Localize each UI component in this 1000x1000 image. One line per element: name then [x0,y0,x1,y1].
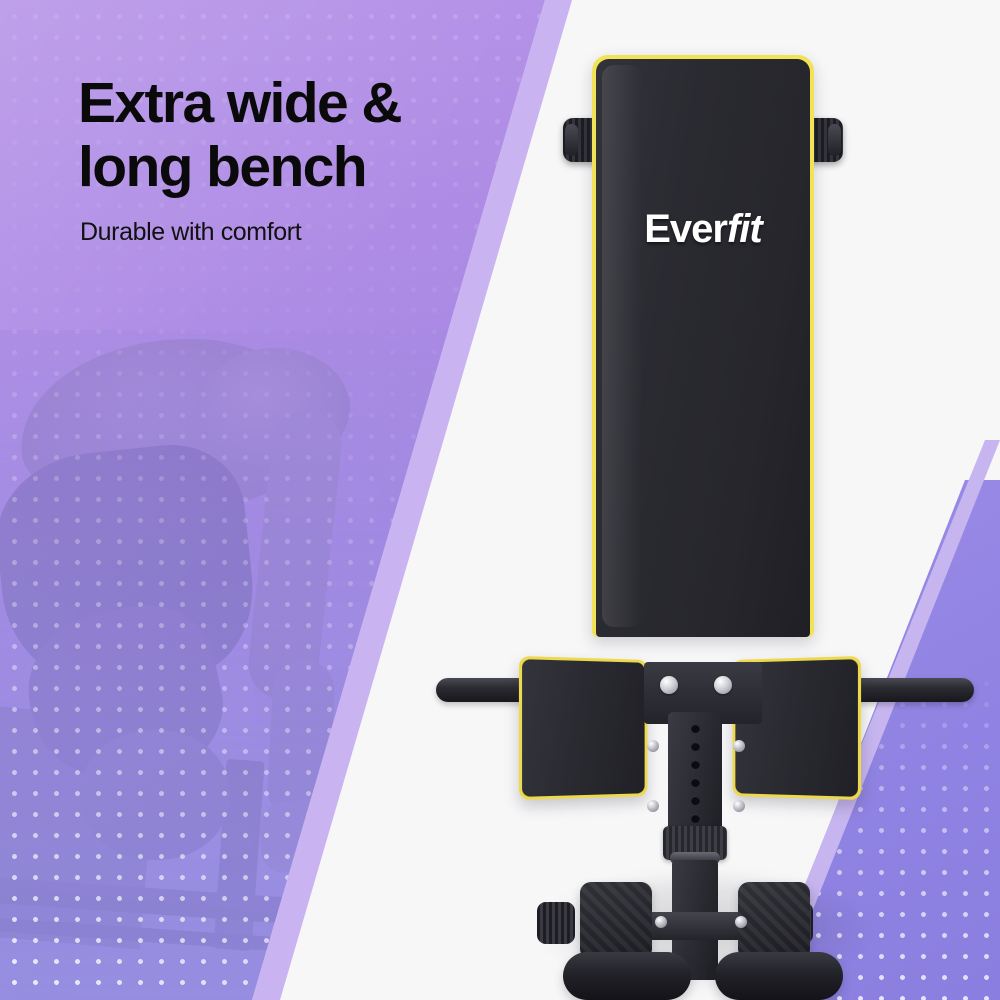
foam-roller-right [715,952,843,1000]
bracket-bolt-right [714,676,732,694]
subtitle: Durable with comfort [80,218,508,247]
crossbar-screw-left [655,916,667,928]
adjustment-hole [691,778,700,787]
pad-highlight [602,65,642,627]
adjustment-post [668,712,722,842]
promo-banner: Extra wide & long bench Durable with com… [0,0,1000,1000]
headline-line-1: Extra wide & [78,71,401,135]
adjustment-hole [691,724,700,733]
post-screw-right-bottom [733,800,745,812]
knob-cap [828,124,841,156]
copy-block: Extra wide & long bench Durable with com… [78,72,508,247]
backrest-pad-surface [596,59,810,637]
foam-roller-left [563,952,691,1000]
backrest-pad: Everfit [592,55,814,637]
base-knob-left [537,902,575,944]
foot-plate-right [738,882,810,960]
thigh-pad-left [519,656,648,800]
crossbar-screw-right [735,916,747,928]
brand-logo: Everfit [592,207,814,252]
brand-logo-suffix: fit [727,207,762,251]
adjustment-hole [691,760,700,769]
bracket-bolt-left [660,676,678,694]
headline-line-2: long bench [78,135,366,199]
page-title: Extra wide & long bench [78,72,508,200]
brand-logo-prefix: Ever [644,207,727,251]
post-screw-left-bottom [647,800,659,812]
post-screw-right-top [733,740,745,752]
thigh-pad-surface [522,659,645,797]
adjustment-hole [691,742,700,751]
post-screw-left-top [647,740,659,752]
adjustment-hole [691,814,700,823]
foot-plate-left [580,882,652,960]
adjustment-hole [691,796,700,805]
knob-cap [565,124,578,156]
